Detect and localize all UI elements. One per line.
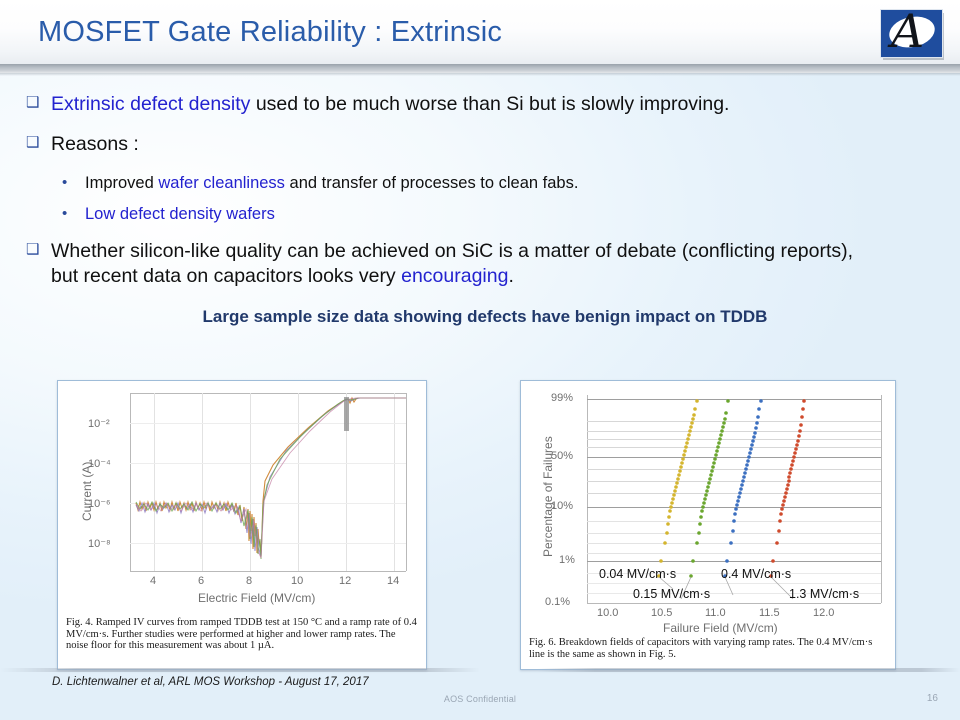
sub-bullet-item: • Low defect density wafers xyxy=(0,203,960,225)
slide: MOSFET Gate Reliability : Extrinsic A ❑ … xyxy=(0,0,960,720)
bullet-run: encouraging xyxy=(401,265,508,287)
slide-body: ❑ Extrinsic defect density used to be mu… xyxy=(0,92,960,327)
fig4-ytick-label: 10⁻⁸ xyxy=(88,537,111,550)
fig4-x-axis-label: Electric Field (MV/cm) xyxy=(198,591,315,605)
bullet-run: wafer cleanliness xyxy=(158,174,285,192)
bullet-item: ❑ Whether silicon-like quality can be ac… xyxy=(0,239,960,289)
fig4-ytick-label: 10⁻² xyxy=(88,417,110,430)
fig6-xtick-label: 11.5 xyxy=(759,607,780,619)
fig4-curves xyxy=(58,381,426,611)
fig4-xtick-label: 12 xyxy=(339,575,351,587)
bullet-text: Extrinsic defect density used to be much… xyxy=(51,92,729,117)
footer-divider xyxy=(0,668,960,672)
fig6-ytick-label: 0.1% xyxy=(545,596,570,608)
source-attribution: D. Lichtenwalner et al, ARL MOS Workshop… xyxy=(52,676,369,688)
fig6-annotation: 0.4 MV/cm·s xyxy=(721,567,791,581)
bullet-item: ❑ Reasons : xyxy=(0,132,960,157)
fig4-plot: 10⁻² 10⁻⁴ 10⁻⁶ 10⁻⁸ 4 6 8 10 12 14 Elect… xyxy=(58,381,426,611)
bullet-run: Improved xyxy=(85,174,158,192)
figure-fig6: 99% 50% 10% 1% 0.1% 0.04 MV/cm·s 0.15 MV… xyxy=(520,380,896,670)
sub-bullet-text: Improved wafer cleanliness and transfer … xyxy=(85,172,578,194)
page-title: MOSFET Gate Reliability : Extrinsic xyxy=(38,16,502,49)
sub-bullet-item: • Improved wafer cleanliness and transfe… xyxy=(0,172,960,194)
sub-bullet-marker-icon: • xyxy=(62,172,85,193)
sub-bullet-text: Low defect density wafers xyxy=(85,203,275,225)
bullet-text: Whether silicon-like quality can be achi… xyxy=(51,239,861,289)
fig4-caption: Fig. 4. Ramped IV curves from ramped TDD… xyxy=(66,617,420,652)
bullet-marker-icon: ❑ xyxy=(26,132,51,154)
fig6-xtick-label: 10.0 xyxy=(597,607,618,619)
bullet-run: Reasons : xyxy=(51,133,139,155)
page-number: 16 xyxy=(927,693,938,704)
bullet-run: Extrinsic defect density xyxy=(51,93,250,115)
fig6-annotation: 1.3 MV/cm·s xyxy=(789,587,859,601)
header-divider xyxy=(0,64,960,73)
logo-box: A xyxy=(880,9,943,58)
fig6-plot: 99% 50% 10% 1% 0.1% 0.04 MV/cm·s 0.15 MV… xyxy=(521,381,895,626)
fig4-xtick-label: 14 xyxy=(387,575,399,587)
fig6-caption: Fig. 6. Breakdown fields of capacitors w… xyxy=(529,637,889,660)
bullet-marker-icon: ❑ xyxy=(26,92,51,114)
fig6-annotation: 0.15 MV/cm·s xyxy=(633,587,710,601)
fig4-y-axis-label: Current (A) xyxy=(80,462,94,521)
bullet-run: . xyxy=(508,265,513,287)
fig6-xtick-label: 10.5 xyxy=(651,607,672,619)
fig6-annotation: 0.04 MV/cm·s xyxy=(599,567,676,581)
company-logo: A xyxy=(880,9,944,59)
bullet-run: and transfer of processes to clean fabs. xyxy=(285,174,579,192)
logo-letter-a: A xyxy=(891,8,924,54)
bullet-run: used to be much worse than Si but is slo… xyxy=(250,93,729,115)
figure-fig4: 10⁻² 10⁻⁴ 10⁻⁶ 10⁻⁸ 4 6 8 10 12 14 Elect… xyxy=(57,380,427,670)
sub-bullet-marker-icon: • xyxy=(62,203,85,224)
confidentiality-notice: AOS Confidential xyxy=(0,694,960,704)
bullet-text: Reasons : xyxy=(51,132,139,157)
fig6-y-axis-label: Percentage of Failures xyxy=(541,436,555,557)
slide-header: MOSFET Gate Reliability : Extrinsic A xyxy=(0,0,960,64)
figures-subheading: Large sample size data showing defects h… xyxy=(0,307,960,327)
bullet-item: ❑ Extrinsic defect density used to be mu… xyxy=(0,92,960,117)
bullet-run: Low defect density wafers xyxy=(85,205,275,223)
fig6-ytick-label: 99% xyxy=(551,392,573,404)
fig4-xtick-label: 6 xyxy=(198,575,204,587)
fig4-xtick-label: 8 xyxy=(246,575,252,587)
fig6-x-axis-label: Failure Field (MV/cm) xyxy=(663,621,778,635)
fig6-xtick-label: 11.0 xyxy=(705,607,726,619)
fig4-xtick-label: 10 xyxy=(291,575,303,587)
fig6-xtick-label: 12.0 xyxy=(813,607,834,619)
bullet-marker-icon: ❑ xyxy=(26,239,51,261)
fig6-ytick-label: 1% xyxy=(559,554,575,566)
fig4-xtick-label: 4 xyxy=(150,575,156,587)
